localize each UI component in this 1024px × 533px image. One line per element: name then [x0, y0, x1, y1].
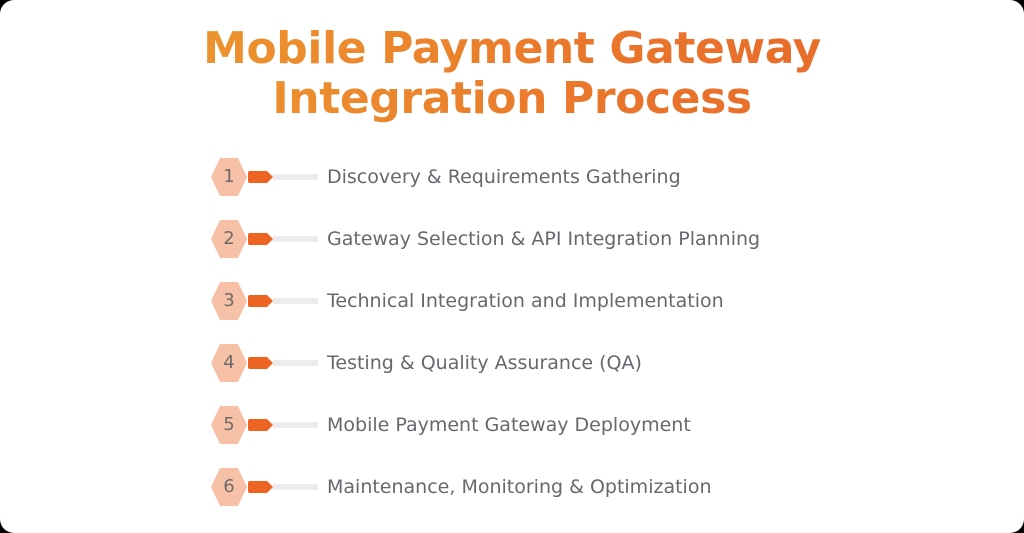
process-step-4: 4 Testing & Quality Assurance (QA) [0, 332, 1024, 394]
step-hexagon-badge: 6 [211, 468, 247, 506]
arrow-connector-icon [248, 233, 273, 245]
process-step-1: 1 Discovery & Requirements Gathering [0, 146, 1024, 208]
step-number: 6 [223, 478, 234, 496]
infographic-page: Mobile Payment Gateway Integration Proce… [0, 0, 1024, 533]
process-step-6: 6 Maintenance, Monitoring & Optimization [0, 456, 1024, 518]
arrow-connector-icon [248, 357, 273, 369]
step-label: Maintenance, Monitoring & Optimization [327, 475, 711, 499]
title-line-1: Mobile Payment Gateway [0, 24, 1024, 74]
step-hexagon-badge: 4 [211, 344, 247, 382]
step-hexagon-badge: 3 [211, 282, 247, 320]
step-number: 2 [223, 230, 234, 248]
step-label: Gateway Selection & API Integration Plan… [327, 227, 760, 251]
step-label: Testing & Quality Assurance (QA) [327, 351, 642, 375]
arrow-connector-icon [248, 171, 273, 183]
step-label: Technical Integration and Implementation [327, 289, 724, 313]
arrow-connector-icon [248, 481, 273, 493]
step-hexagon-badge: 1 [211, 158, 247, 196]
process-step-5: 5 Mobile Payment Gateway Deployment [0, 394, 1024, 456]
rail-connector-line [273, 360, 318, 366]
step-number: 3 [223, 292, 234, 310]
process-step-2: 2 Gateway Selection & API Integration Pl… [0, 208, 1024, 270]
step-label: Discovery & Requirements Gathering [327, 165, 681, 189]
arrow-connector-icon [248, 419, 273, 431]
rail-connector-line [273, 174, 318, 180]
rail-connector-line [273, 298, 318, 304]
rail-connector-line [273, 236, 318, 242]
process-step-list: 1 Discovery & Requirements Gathering 2 G… [0, 146, 1024, 518]
step-label: Mobile Payment Gateway Deployment [327, 413, 691, 437]
rail-connector-line [273, 422, 318, 428]
step-number: 1 [223, 168, 234, 186]
step-hexagon-badge: 2 [211, 220, 247, 258]
page-title: Mobile Payment Gateway Integration Proce… [0, 24, 1024, 124]
process-step-3: 3 Technical Integration and Implementati… [0, 270, 1024, 332]
step-number: 4 [223, 354, 234, 372]
step-hexagon-badge: 5 [211, 406, 247, 444]
step-number: 5 [223, 416, 234, 434]
arrow-connector-icon [248, 295, 273, 307]
title-line-2: Integration Process [0, 74, 1024, 124]
rail-connector-line [273, 484, 318, 490]
